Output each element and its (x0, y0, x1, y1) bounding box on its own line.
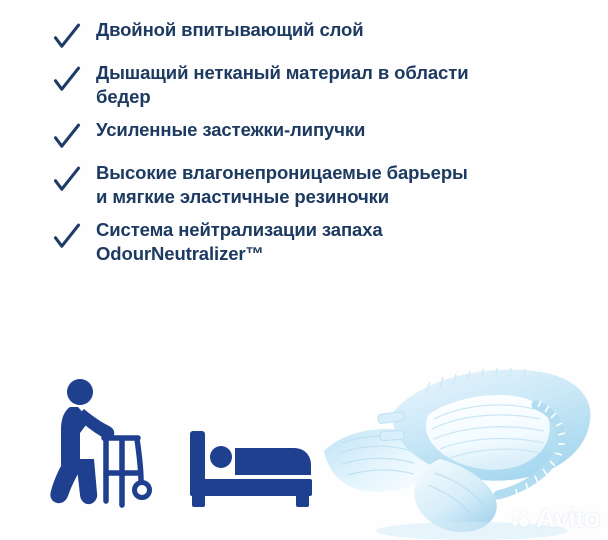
pictogram-band: Avito (0, 355, 608, 540)
checkmark-icon (52, 122, 82, 152)
feature-infographic: Двойной впитывающий слой Дышащий нетканы… (0, 0, 608, 540)
feature-item: Высокие влагонепроницаемые барьеры и мяг… (0, 161, 608, 209)
feature-label: Система нейтрализации запаха OdourNeutra… (96, 218, 551, 266)
feature-item: Усиленные застежки-липучки (0, 118, 608, 152)
checkmark-icon (52, 65, 82, 95)
checkmark-icon (52, 22, 82, 52)
person-with-walker-icon (50, 377, 158, 512)
feature-list: Двойной впитывающий слой Дышащий нетканы… (0, 0, 608, 275)
feature-item: Двойной впитывающий слой (0, 18, 608, 52)
feature-label: Дышащий нетканый материал в области беде… (96, 61, 551, 109)
adult-diaper-photo (322, 355, 608, 540)
checkmark-icon (52, 222, 82, 252)
checkmark-icon (52, 165, 82, 195)
feature-item: Дышащий нетканый материал в области беде… (0, 61, 608, 109)
feature-label: Усиленные застежки-липучки (96, 118, 551, 142)
feature-label: Двойной впитывающий слой (96, 18, 551, 42)
person-in-bed-icon (190, 429, 318, 509)
feature-item: Система нейтрализации запаха OdourNeutra… (0, 218, 608, 266)
feature-label: Высокие влагонепроницаемые барьеры и мяг… (96, 161, 551, 209)
